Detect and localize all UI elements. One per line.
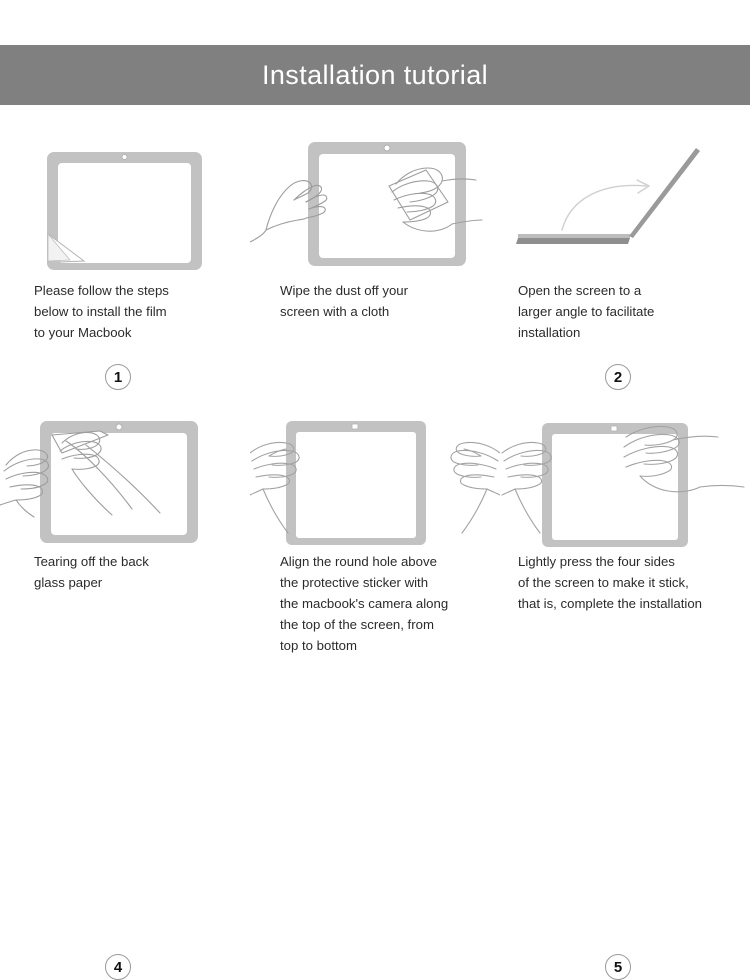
page-title: Installation tutorial: [262, 62, 488, 89]
step-3-illustration: [500, 130, 750, 270]
step-5-caption: Align the round hole above the protectiv…: [280, 551, 492, 656]
step-5-illustration: [250, 409, 500, 549]
laptop-lid-icon: [629, 148, 700, 238]
right-hand-icon: [451, 442, 500, 533]
tutorial-page: Installation tutorial Please fol: [0, 0, 750, 750]
tutorial-step-6: Lightly press the four sides of the scre…: [500, 405, 750, 725]
tutorial-step-5: Align the round hole above the protectiv…: [250, 405, 500, 725]
tutorial-step-3: Open the screen to a larger angle to fac…: [500, 120, 750, 405]
step-4-caption: Tearing off the back glass paper: [34, 551, 242, 593]
screen-bezel-icon: [542, 423, 688, 547]
open-angle-arrow-icon: [562, 180, 649, 230]
tutorial-step-1: Please follow the steps below to install…: [0, 120, 250, 405]
tutorial-step-4: Tearing off the back glass paper 4: [0, 405, 250, 725]
header-banner: Installation tutorial: [0, 45, 750, 105]
step-2-caption: Wipe the dust off your screen with a clo…: [280, 280, 492, 322]
step-6-caption: Lightly press the four sides of the scre…: [518, 551, 746, 614]
step-1-number: 1: [105, 364, 131, 390]
step-5-number: 5: [605, 954, 631, 980]
step-6-illustration: [500, 409, 750, 549]
steps-grid: Please follow the steps below to install…: [0, 120, 750, 730]
step-1-illustration: [0, 130, 250, 270]
step-4-illustration: [0, 409, 250, 549]
tutorial-step-2: Wipe the dust off your screen with a clo…: [250, 120, 500, 405]
laptop-base-icon: [516, 234, 630, 244]
step-1-caption: Please follow the steps below to install…: [34, 280, 242, 343]
step-2-illustration: [250, 130, 500, 270]
screen-bezel-icon: [286, 421, 426, 545]
step-4-number: 4: [105, 954, 131, 980]
step-3-caption: Open the screen to a larger angle to fac…: [518, 280, 746, 343]
